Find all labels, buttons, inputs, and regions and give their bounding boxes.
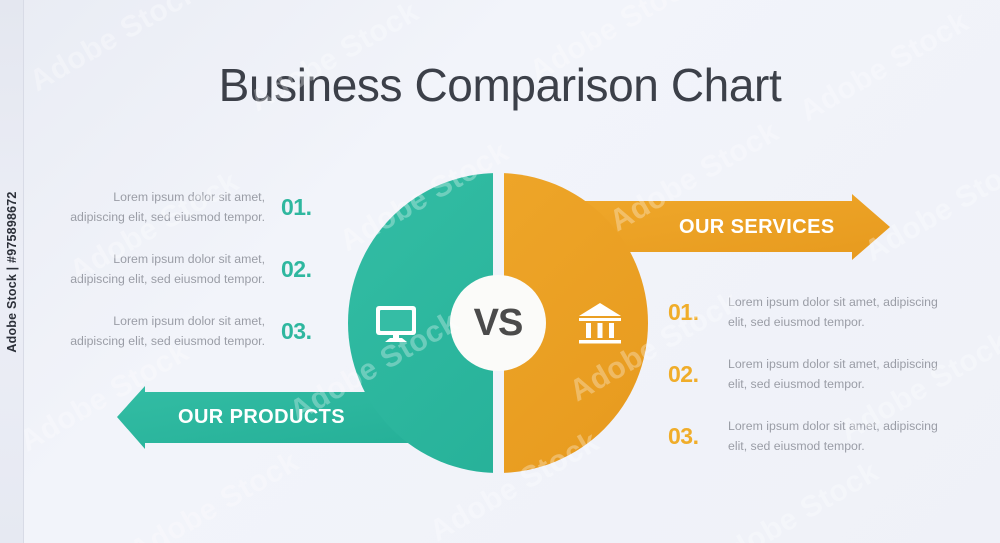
list-item-number: 01. — [668, 299, 712, 326]
list-item[interactable]: 03. Lorem ipsum dolor sit amet, adipisci… — [668, 417, 968, 457]
infographic-canvas: Adobe Stock Adobe Stock Adobe Stock Adob… — [0, 0, 1000, 543]
list-item[interactable]: Lorem ipsum dolor sit amet, adipiscing e… — [50, 250, 325, 290]
adobe-stock-rail: Adobe Stock | #975898672 — [0, 0, 24, 543]
list-item-text: Lorem ipsum dolor sit amet, adipiscing e… — [728, 355, 942, 395]
list-item-text: Lorem ipsum dolor sit amet, adipiscing e… — [728, 417, 942, 457]
list-item-text: Lorem ipsum dolor sit amet, adipiscing e… — [728, 293, 942, 333]
list-item-number: 03. — [668, 423, 712, 450]
list-item[interactable]: Lorem ipsum dolor sit amet, adipiscing e… — [50, 312, 325, 352]
our-services-label: OUR SERVICES — [679, 216, 835, 239]
list-item-number: 02. — [668, 361, 712, 388]
page-title: Business Comparison Chart — [0, 58, 1000, 112]
list-item-text: Lorem ipsum dolor sit amet, adipiscing e… — [61, 312, 265, 352]
list-item-text: Lorem ipsum dolor sit amet, adipiscing e… — [61, 250, 265, 290]
right-items-list: 01. Lorem ipsum dolor sit amet, adipisci… — [668, 293, 968, 456]
list-item[interactable]: 02. Lorem ipsum dolor sit amet, adipisci… — [668, 355, 968, 395]
adobe-stock-credit: Adobe Stock | #975898672 — [5, 191, 19, 352]
desktop-monitor-icon — [372, 300, 420, 353]
left-items-list: Lorem ipsum dolor sit amet, adipiscing e… — [50, 188, 325, 351]
list-item-text: Lorem ipsum dolor sit amet, adipiscing e… — [61, 188, 265, 228]
our-products-label: OUR PRODUCTS — [178, 406, 345, 429]
list-item-number: 03. — [281, 318, 325, 345]
list-item[interactable]: 01. Lorem ipsum dolor sit amet, adipisci… — [668, 293, 968, 333]
bank-building-icon — [575, 298, 625, 353]
list-item[interactable]: Lorem ipsum dolor sit amet, adipiscing e… — [50, 188, 325, 228]
list-item-number: 01. — [281, 194, 325, 221]
vs-badge: VS — [450, 275, 546, 371]
vs-label: VS — [474, 302, 523, 345]
list-item-number: 02. — [281, 256, 325, 283]
